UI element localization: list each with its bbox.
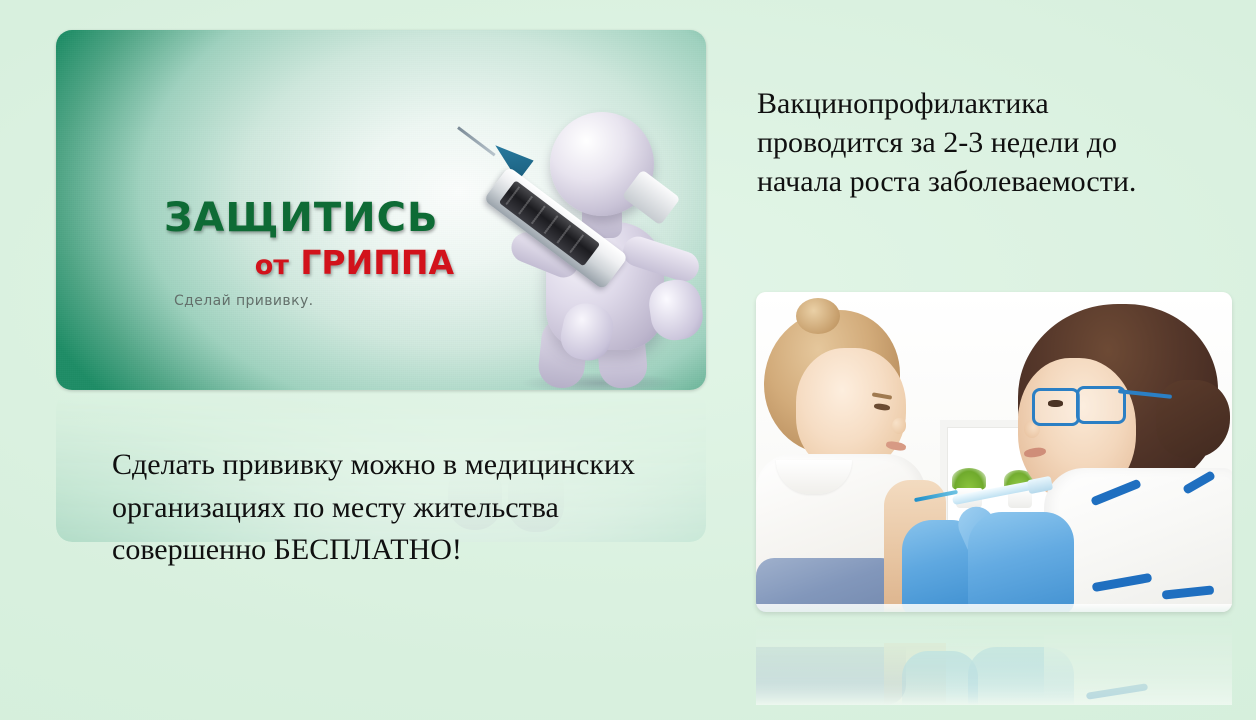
poster-text-block: ЗАЩИТИСЬ от ГРИППА Сделай прививку.: [164, 198, 454, 309]
photo-plant-left: [952, 468, 986, 490]
syringe-needle: [457, 126, 496, 156]
photo-nurse-glove-right: [968, 512, 1074, 612]
poster-caption: Сделай прививку.: [174, 293, 454, 309]
poster-image: ЗАЩИТИСЬ от ГРИППА Сделай прививку.: [56, 30, 706, 390]
photo-child-hair-bun: [796, 298, 840, 334]
photo-desk-surface: [756, 604, 1232, 612]
photo-nurse-braid: [1156, 380, 1230, 458]
photo-card[interactable]: [756, 292, 1232, 612]
poster-card[interactable]: ЗАЩИТИСЬ от ГРИППА Сделай прививку.: [56, 30, 706, 390]
photo-nurse-vaccinating-child: [756, 292, 1232, 612]
mannequin-figure: [454, 104, 706, 390]
text-block-vaccination-timing: Вакцинопрофилактика проводится за 2-3 не…: [757, 84, 1197, 201]
photo-child-nose: [892, 418, 906, 434]
photo-nurse-glasses-left-lens: [1032, 388, 1080, 426]
text-block-free-vaccination: Сделать прививку можно в медицинских орг…: [112, 444, 672, 572]
photo-reflection-glove-left: [902, 651, 978, 705]
poster-subhead: от ГРИППА: [164, 246, 454, 279]
syringe-plunger: [622, 169, 681, 225]
syringe-barrel: [483, 166, 628, 290]
syringe-inner-chamber: [499, 180, 601, 266]
poster-subhead-big: ГРИППА: [300, 243, 454, 282]
photo-reflection: [756, 613, 1232, 705]
poster-headline: ЗАЩИТИСЬ: [164, 198, 454, 238]
slide-canvas: ЗАЩИТИСЬ от ГРИППА Сделай прививку.: [0, 0, 1256, 720]
photo-reflection-coat: [1044, 635, 1232, 705]
poster-subhead-small: от: [255, 250, 289, 281]
photo-nurse-eye: [1048, 400, 1063, 407]
syringe-icon: [456, 120, 666, 330]
